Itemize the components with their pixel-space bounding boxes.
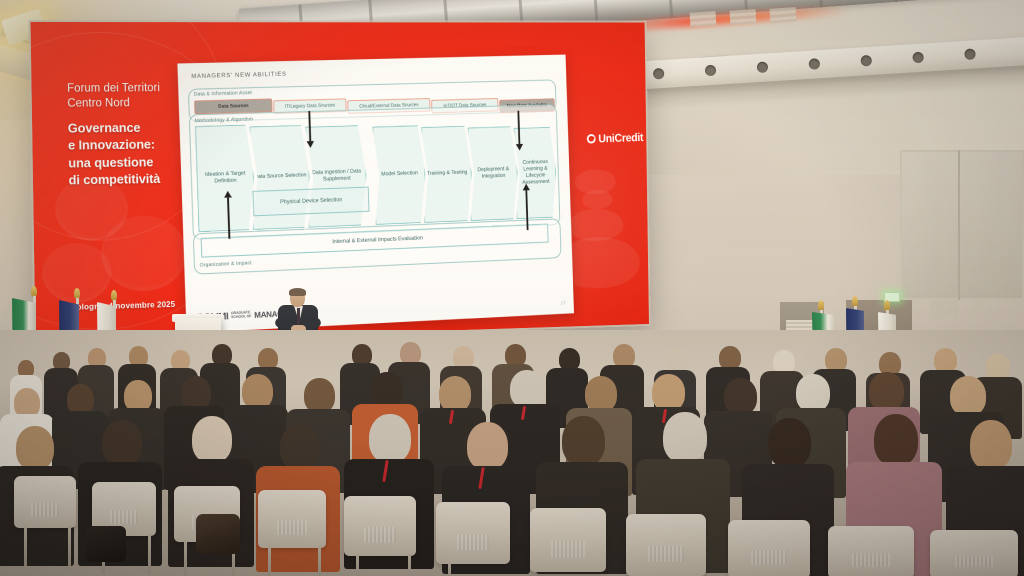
step-ideation-target-definition[interactable]: Ideation & Target Definition bbox=[195, 124, 256, 232]
forum-kicker: Forum dei Territori Centro Nord bbox=[67, 81, 184, 112]
process-chevrons: Ideation & Target Definition Data Source… bbox=[195, 115, 555, 232]
polimi-subtitle: GRADUATE SCHOOL OF bbox=[231, 311, 252, 320]
chair-leg bbox=[24, 526, 27, 566]
chair[interactable] bbox=[728, 520, 810, 576]
slide-title: MANAGERS' NEW ABILITIES bbox=[191, 71, 287, 80]
arrow-up-left-head-icon bbox=[224, 191, 232, 198]
step-model-selection[interactable]: Model Selection bbox=[372, 125, 427, 225]
projection-screen[interactable]: Forum dei Territori Centro Nord Governan… bbox=[30, 22, 649, 344]
chair[interactable] bbox=[258, 490, 326, 548]
slide-page-number: 17 bbox=[561, 300, 566, 306]
forum-title: Governance e Innovazione: una questione … bbox=[68, 119, 191, 189]
chair[interactable] bbox=[930, 530, 1018, 576]
bag bbox=[86, 526, 126, 562]
speaker-tie bbox=[297, 308, 300, 324]
arrow-down-left-head-icon bbox=[307, 141, 315, 148]
unicredit-mark-icon bbox=[587, 134, 596, 144]
chair[interactable] bbox=[344, 496, 416, 556]
window-right bbox=[900, 150, 1024, 300]
speaker-hair bbox=[289, 288, 306, 296]
arrow-down-right-head-icon bbox=[516, 144, 523, 151]
arrow-up-right-head-icon bbox=[523, 184, 530, 191]
chair-leg bbox=[184, 540, 187, 576]
chair-leg bbox=[408, 554, 411, 576]
window-mullion bbox=[958, 150, 960, 300]
wall-vent-icon bbox=[690, 11, 717, 27]
wall-panel bbox=[930, 300, 958, 316]
box-physical-device-selection[interactable]: Physical Device Selection bbox=[253, 187, 370, 217]
step-deployment-integration[interactable]: Deployment & Integration bbox=[467, 126, 519, 221]
unicredit-wordmark: UniCredit bbox=[598, 131, 643, 146]
chair[interactable] bbox=[828, 526, 914, 576]
brand-title-column: Forum dei Territori Centro Nord Governan… bbox=[30, 22, 184, 344]
unicredit-logo: UniCredit bbox=[587, 131, 644, 146]
wall-vent-icon bbox=[730, 9, 757, 25]
audience bbox=[0, 330, 1024, 576]
chair-leg bbox=[148, 534, 151, 574]
chair-leg bbox=[356, 554, 359, 576]
conference-photo: Forum dei Territori Centro Nord Governan… bbox=[0, 0, 1024, 576]
chair-leg bbox=[318, 546, 321, 576]
chair[interactable] bbox=[14, 476, 76, 528]
chair[interactable] bbox=[530, 508, 606, 572]
chair-leg bbox=[268, 546, 271, 576]
slide-canvas: MANAGERS' NEW ABILITIES 17 Data & Inform… bbox=[177, 55, 574, 334]
chair-leg bbox=[68, 526, 71, 566]
bag bbox=[196, 514, 240, 554]
chair[interactable] bbox=[436, 502, 510, 564]
decor-chess-piece bbox=[582, 190, 612, 209]
step-training-testing[interactable]: Training & Testing bbox=[421, 126, 473, 223]
chair-leg bbox=[448, 562, 451, 576]
wall-vent-icon bbox=[770, 7, 797, 23]
chair[interactable] bbox=[626, 514, 706, 576]
